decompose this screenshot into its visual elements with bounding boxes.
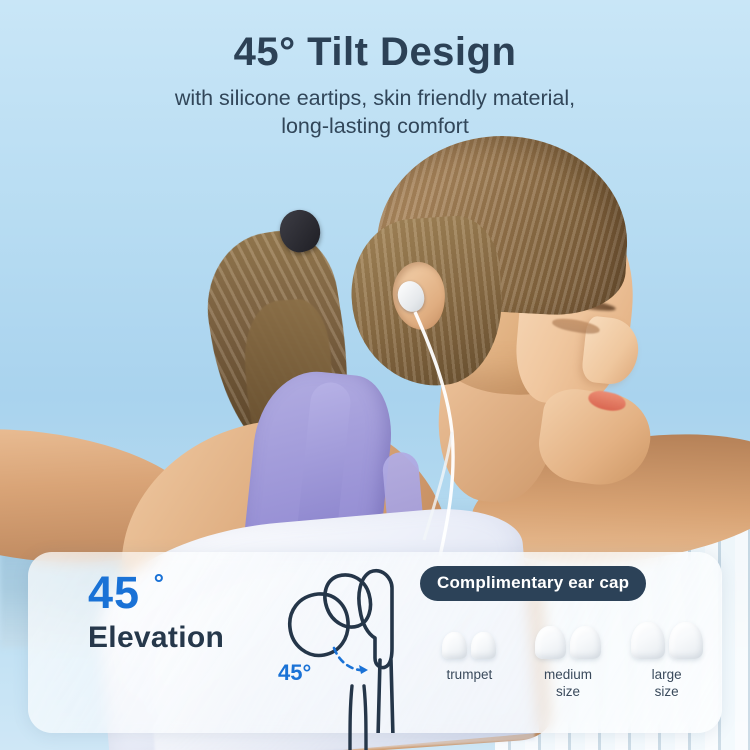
elevation-number: 45 xyxy=(88,567,140,618)
eartip-icon xyxy=(570,626,601,659)
eartip-label-line-1: medium xyxy=(519,667,618,684)
subtitle-line-1: with silicone eartips, skin friendly mat… xyxy=(0,84,750,112)
ear-caps-block: Complimentary ear cap trumpet xyxy=(420,566,716,701)
angle-arrow-icon xyxy=(359,665,368,674)
elevation-block: 45 ° Elevation xyxy=(88,570,224,655)
tilt-diagram: 45° xyxy=(274,552,424,733)
eartip-icon xyxy=(631,622,665,659)
eartip-label: trumpet xyxy=(420,667,519,684)
eartip-icon xyxy=(669,622,703,659)
eartip-icon xyxy=(535,626,566,659)
eartip-label-line-1: trumpet xyxy=(420,667,519,684)
header-block: 45° Tilt Design with silicone eartips, s… xyxy=(0,30,750,141)
status-badge: Complimentary ear cap xyxy=(420,566,646,601)
page-subtitle: with silicone eartips, skin friendly mat… xyxy=(0,84,750,141)
earbud-tilt-diagram-icon xyxy=(274,552,424,733)
eartip-label-line-1: large xyxy=(617,667,716,684)
elevation-value: 45 ° xyxy=(88,570,224,615)
degree-symbol: ° xyxy=(154,568,165,598)
diagram-angle-label: 45° xyxy=(278,660,311,686)
eartip-label: large size xyxy=(617,667,716,701)
product-poster: 45° Tilt Design with silicone eartips, s… xyxy=(0,0,750,750)
eartip-label: medium size xyxy=(519,667,618,701)
eartip-pair-trumpet xyxy=(420,619,519,659)
list-item: trumpet xyxy=(420,619,519,701)
eartip-label-line-2: size xyxy=(617,684,716,701)
eartip-label-line-2: size xyxy=(519,684,618,701)
list-item: medium size xyxy=(519,619,618,701)
subtitle-line-2: long-lasting comfort xyxy=(0,112,750,140)
page-title: 45° Tilt Design xyxy=(0,30,750,74)
eartip-icon xyxy=(471,632,496,659)
elevation-label: Elevation xyxy=(88,621,224,655)
angle-arc-icon xyxy=(334,648,368,670)
eartip-icon xyxy=(442,632,467,659)
feature-panel: 45 ° Elevation xyxy=(28,552,722,733)
list-item: large size xyxy=(617,619,716,701)
eartip-pair-large xyxy=(617,619,716,659)
ear-cap-list: trumpet medium size xyxy=(420,619,716,701)
eartip-pair-medium xyxy=(519,619,618,659)
